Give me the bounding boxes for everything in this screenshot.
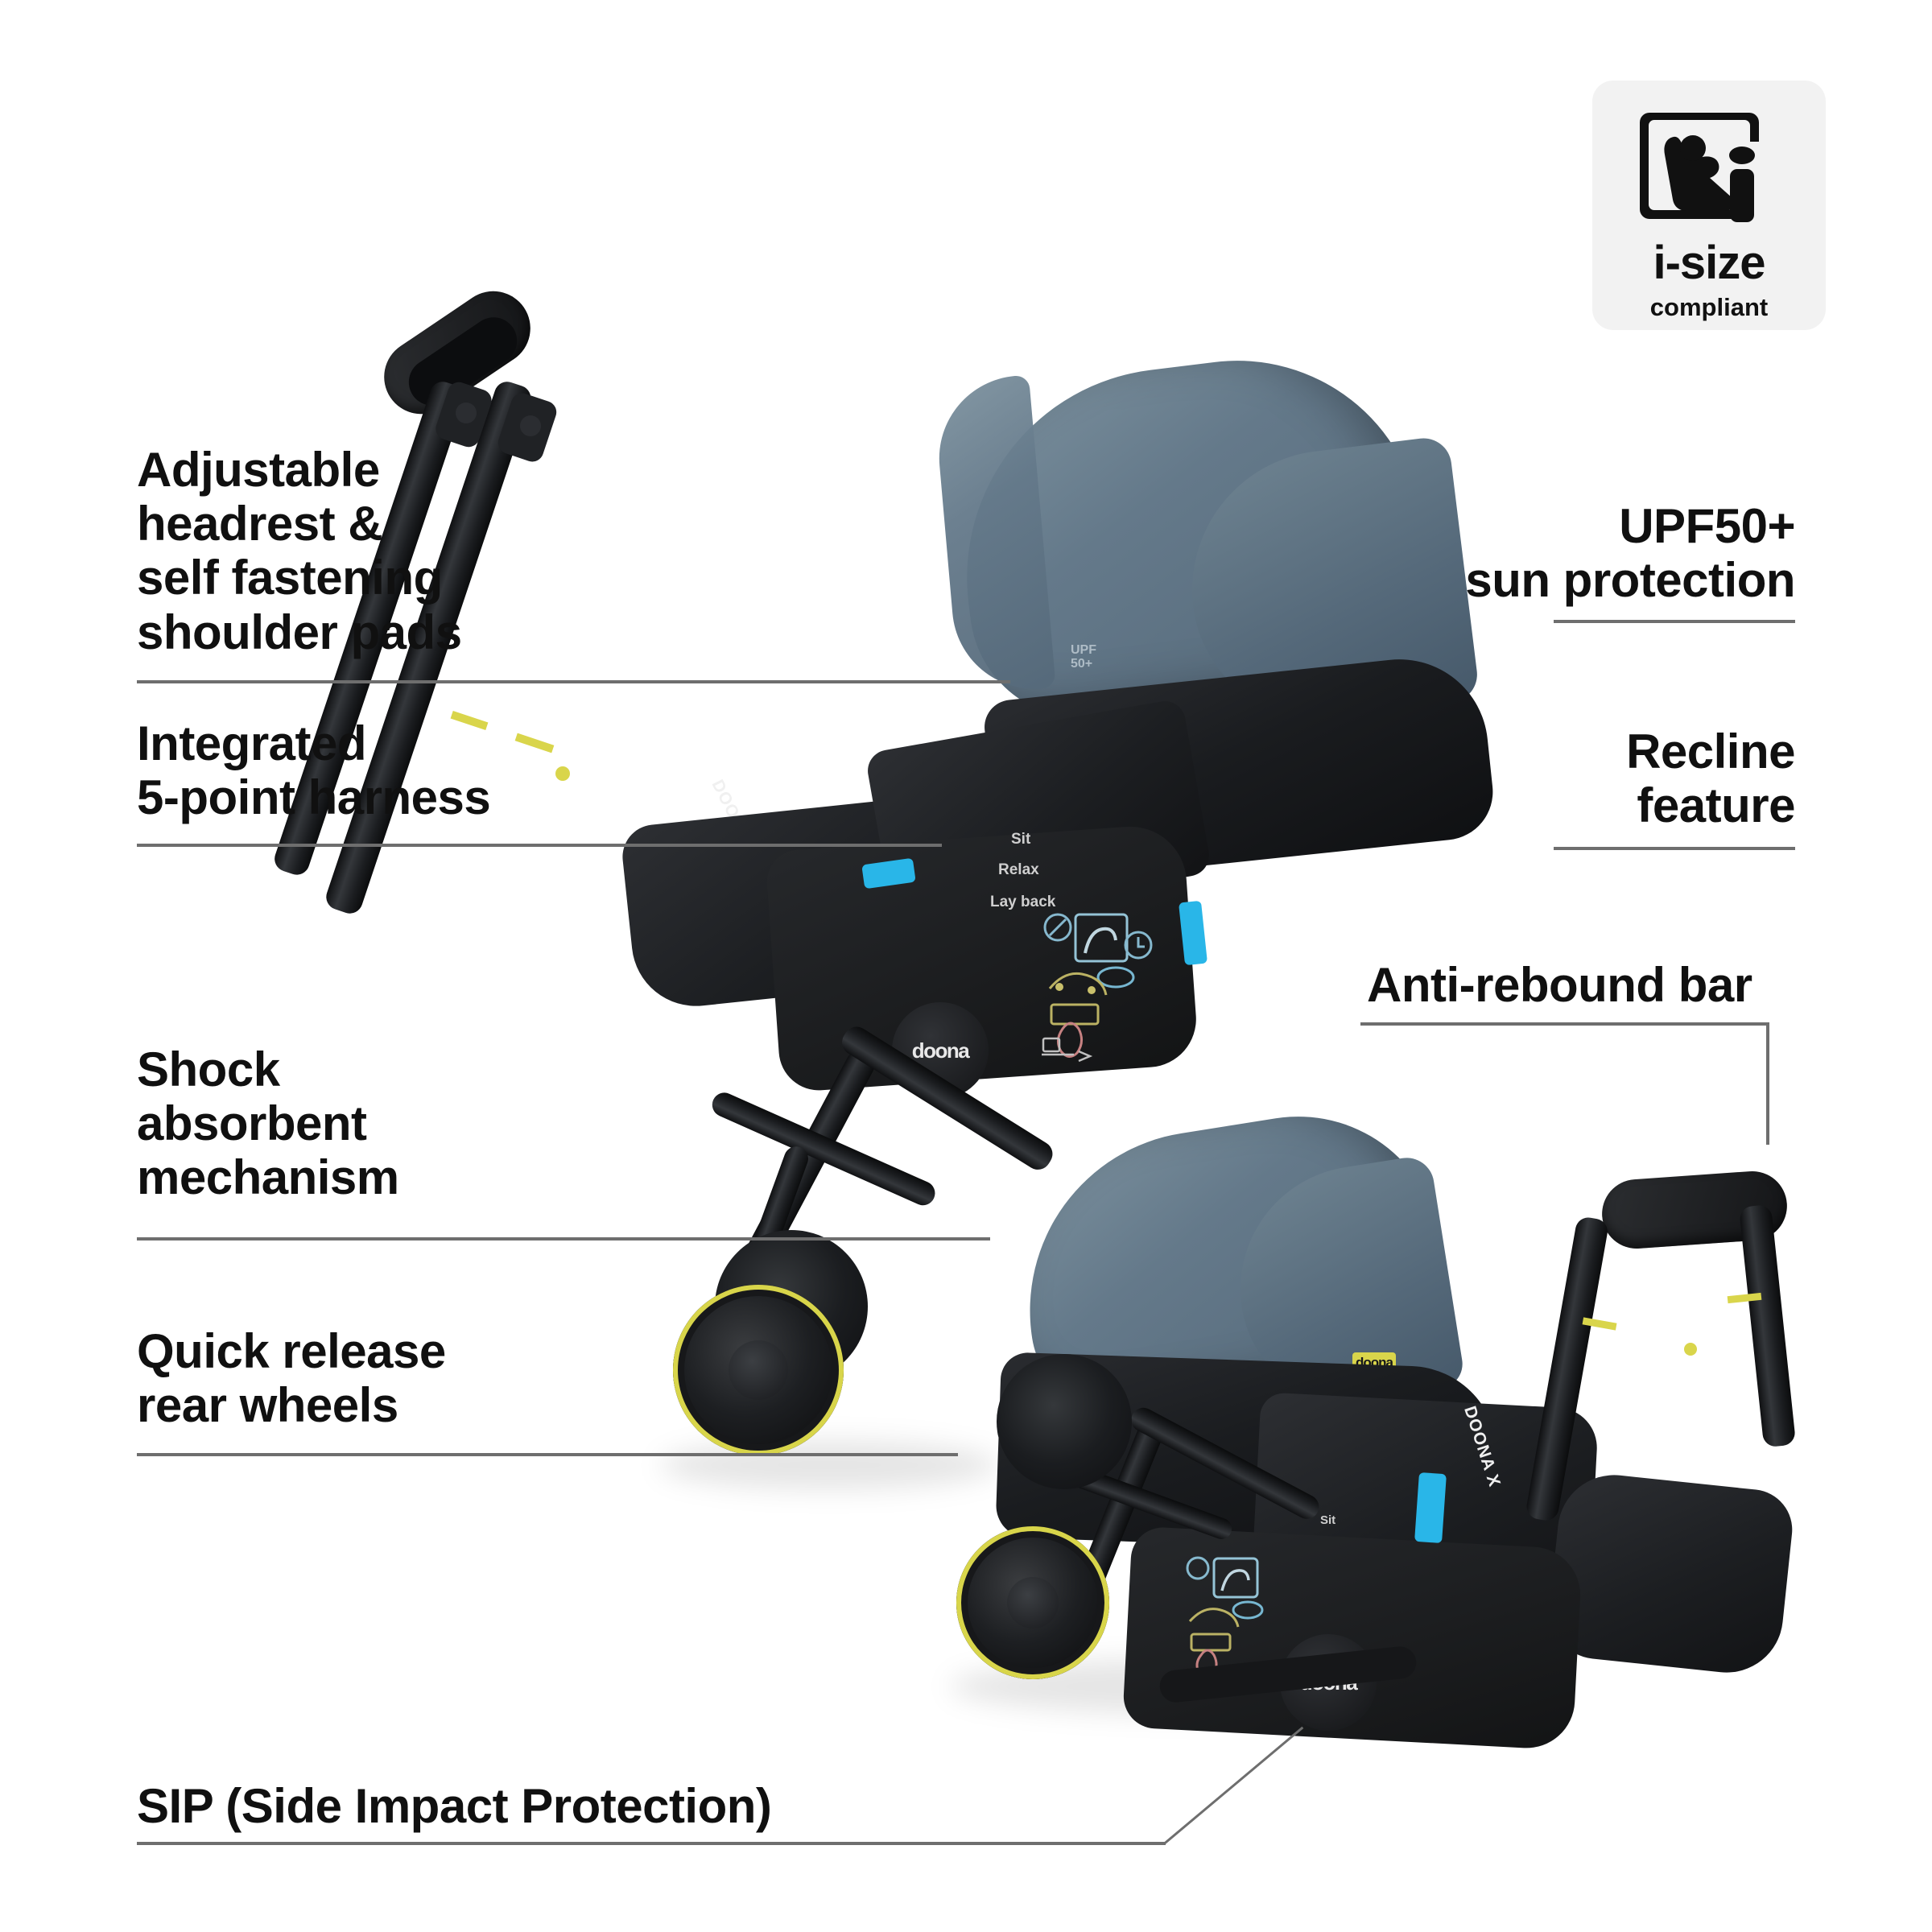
infographic-canvas: i-size compliant DOONA X UPF50+ Sit Rela bbox=[0, 0, 1932, 1932]
callout-wheels: Quick release rear wheels bbox=[137, 1324, 446, 1432]
callout-wheels-line-2: rear wheels bbox=[137, 1378, 446, 1432]
callout-antirebound: Anti-rebound bar bbox=[1367, 958, 1752, 1012]
callout-sip-line-1: SIP (Side Impact Protection) bbox=[137, 1779, 771, 1833]
callout-harness-line-1: Integrated bbox=[137, 716, 490, 770]
callout-upf-line-1: UPF50+ bbox=[1393, 499, 1795, 553]
harness-buckle-2 bbox=[1414, 1472, 1447, 1543]
leader-line-upf bbox=[1554, 620, 1795, 623]
leader-line-shock bbox=[137, 1237, 990, 1241]
leader-line-wheels bbox=[137, 1453, 958, 1456]
callout-shock-line-1: Shock bbox=[137, 1042, 399, 1096]
callout-headrest-line-4: shoulder pads bbox=[137, 605, 462, 659]
headrest-pad-2 bbox=[1545, 1469, 1796, 1678]
callout-harness-line-2: 5-point harness bbox=[137, 770, 490, 824]
callout-sip: SIP (Side Impact Protection) bbox=[137, 1779, 771, 1833]
leader-line-sip bbox=[137, 1842, 1166, 1845]
callout-shock-line-3: mechanism bbox=[137, 1150, 399, 1204]
callout-shock-line-2: absorbent bbox=[137, 1096, 399, 1150]
leader-line-recline bbox=[1554, 847, 1795, 850]
yellow-dot-2 bbox=[1684, 1343, 1697, 1356]
callout-upf: UPF50+ sun protection bbox=[1393, 499, 1795, 607]
handle-tube-2b bbox=[1739, 1204, 1796, 1448]
leader-line-antirebound bbox=[1360, 1022, 1769, 1026]
wheel-hub-2 bbox=[1007, 1577, 1059, 1629]
callout-antirebound-line-1: Anti-rebound bar bbox=[1367, 958, 1752, 1012]
leader-line-antirebound-drop bbox=[1766, 1022, 1769, 1145]
callout-recline: Recline feature bbox=[1393, 724, 1795, 832]
callout-harness: Integrated 5-point harness bbox=[137, 716, 490, 824]
callout-headrest-line-2: headrest & bbox=[137, 497, 462, 551]
callout-recline-line-2: feature bbox=[1393, 778, 1795, 832]
callout-recline-line-1: Recline bbox=[1393, 724, 1795, 778]
callout-upf-line-2: sun protection bbox=[1393, 553, 1795, 607]
front-wheel-near-2 bbox=[956, 1526, 1109, 1679]
front-wheel-far-2 bbox=[997, 1354, 1132, 1489]
callout-headrest-line-1: Adjustable bbox=[137, 443, 462, 497]
leader-line-harness bbox=[137, 844, 942, 847]
callout-headrest-line-3: self fastening bbox=[137, 551, 462, 605]
callout-headrest: Adjustable headrest & self fastening sho… bbox=[137, 443, 462, 659]
leader-line-headrest bbox=[137, 680, 1010, 683]
callout-shock: Shock absorbent mechanism bbox=[137, 1042, 399, 1205]
callout-wheels-line-1: Quick release bbox=[137, 1324, 446, 1378]
recline-label-sit-2: Sit bbox=[1320, 1513, 1335, 1527]
